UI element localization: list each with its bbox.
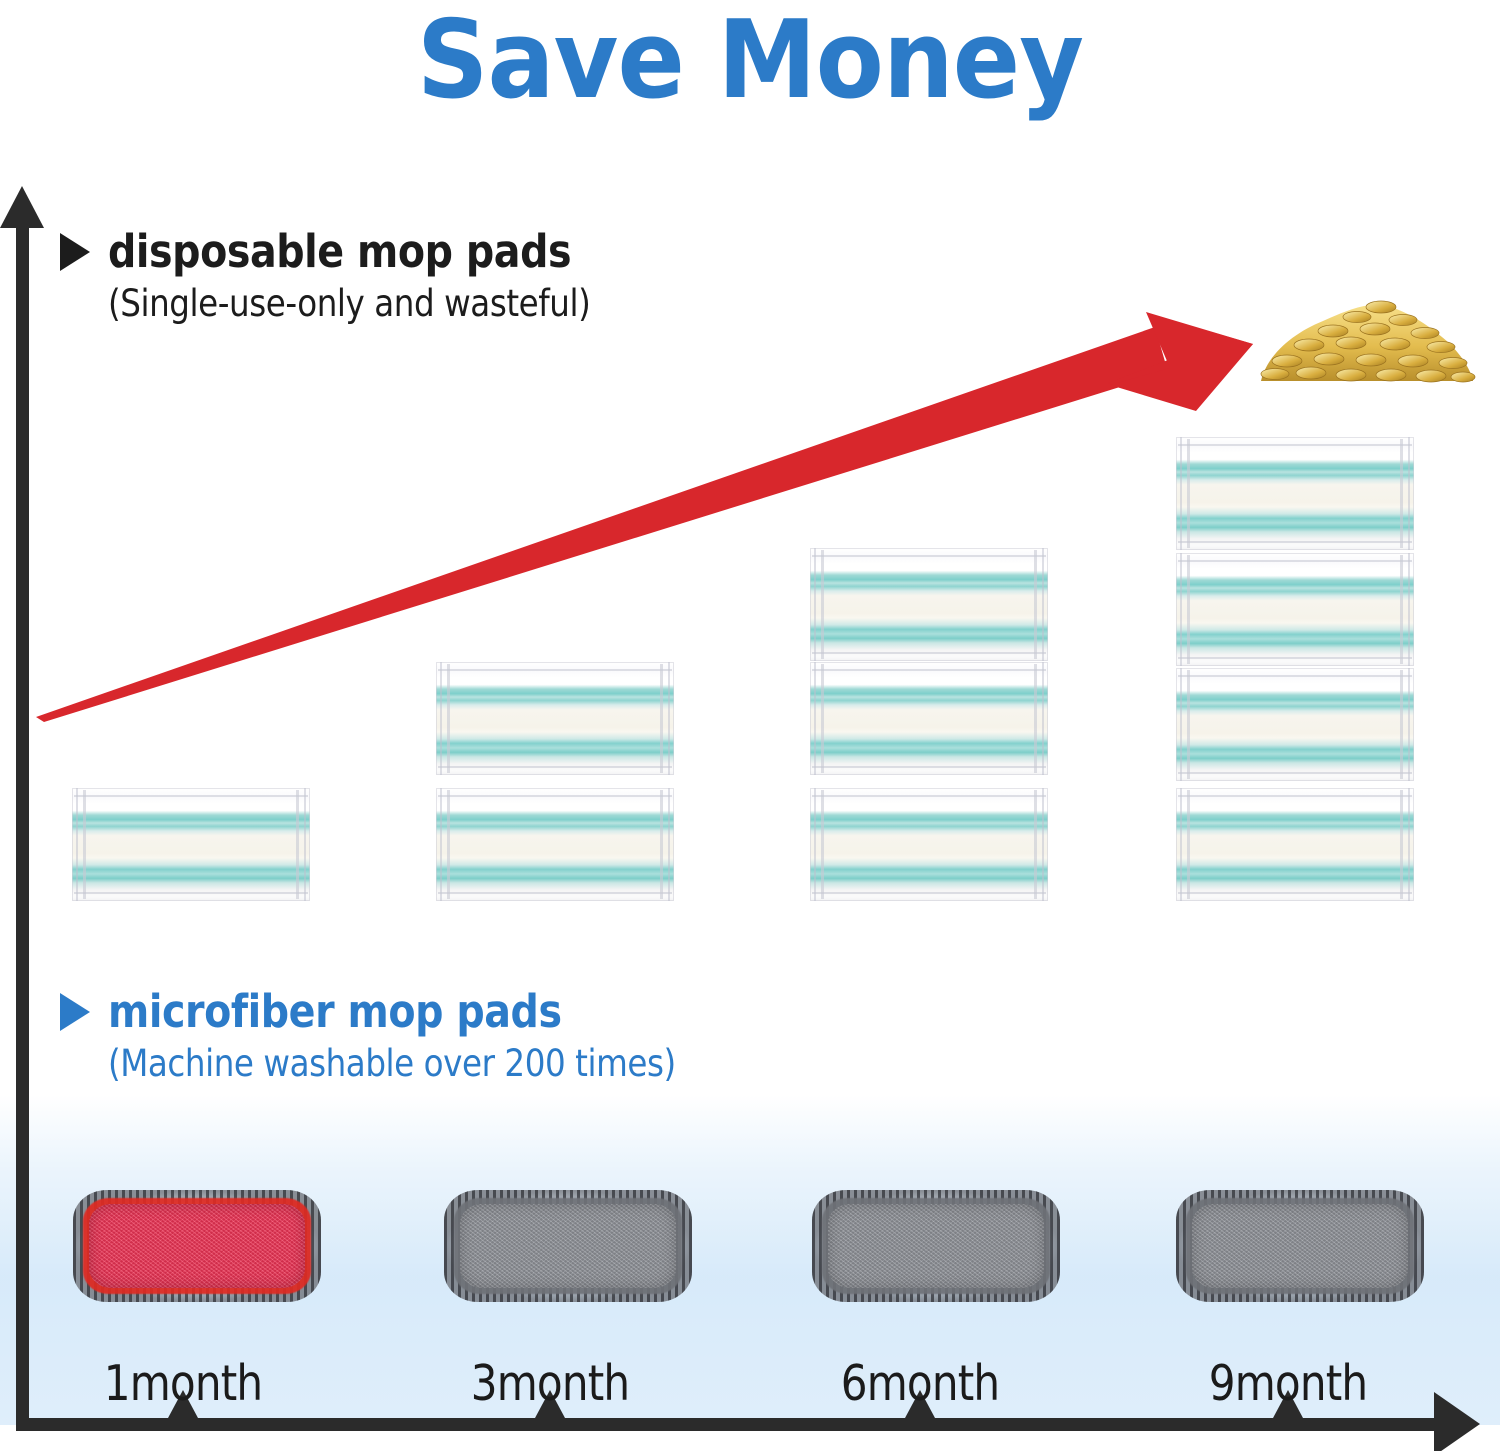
x-axis-label-1month: 1month bbox=[71, 1358, 295, 1410]
page-title: Save Money bbox=[60, 2, 1440, 120]
legend-disposable-heading: disposable mop pads bbox=[108, 228, 571, 276]
infographic-canvas: Save Money disposable mop pads (Single-u… bbox=[0, 0, 1500, 1451]
disposable-pad bbox=[810, 788, 1048, 901]
legend-disposable-mop-pads: disposable mop pads (Single-use-only and… bbox=[60, 228, 656, 326]
microfiber-pad-red bbox=[73, 1190, 321, 1302]
triangle-right-icon bbox=[60, 993, 90, 1031]
legend-microfiber-mop-pads: microfiber mop pads (Machine washable ov… bbox=[60, 988, 753, 1086]
disposable-pad bbox=[810, 548, 1048, 661]
x-axis-label-6month: 6month bbox=[808, 1358, 1032, 1410]
disposable-pad bbox=[72, 788, 310, 901]
microfiber-pad-gray bbox=[444, 1190, 692, 1302]
disposable-pad bbox=[810, 662, 1048, 775]
disposable-pad bbox=[436, 662, 674, 775]
disposable-pad bbox=[1176, 437, 1414, 550]
x-axis-arrow-icon bbox=[1434, 1392, 1480, 1451]
x-axis-line bbox=[16, 1418, 1442, 1431]
x-axis-label-9month: 9month bbox=[1176, 1358, 1400, 1410]
coin-pile-icon bbox=[1253, 277, 1478, 387]
disposable-pad bbox=[1176, 788, 1414, 901]
microfiber-pad-gray bbox=[1176, 1190, 1424, 1302]
disposable-pad bbox=[1176, 668, 1414, 781]
legend-microfiber-subtext: (Machine washable over 200 times) bbox=[108, 1042, 676, 1086]
disposable-pad bbox=[1176, 553, 1414, 666]
triangle-right-icon bbox=[60, 233, 90, 271]
disposable-pad bbox=[436, 788, 674, 901]
microfiber-pad-gray bbox=[812, 1190, 1060, 1302]
x-axis-label-3month: 3month bbox=[438, 1358, 662, 1410]
y-axis-line bbox=[16, 215, 29, 1431]
legend-disposable-subtext: (Single-use-only and wasteful) bbox=[108, 282, 590, 326]
legend-microfiber-heading: microfiber mop pads bbox=[108, 988, 562, 1036]
